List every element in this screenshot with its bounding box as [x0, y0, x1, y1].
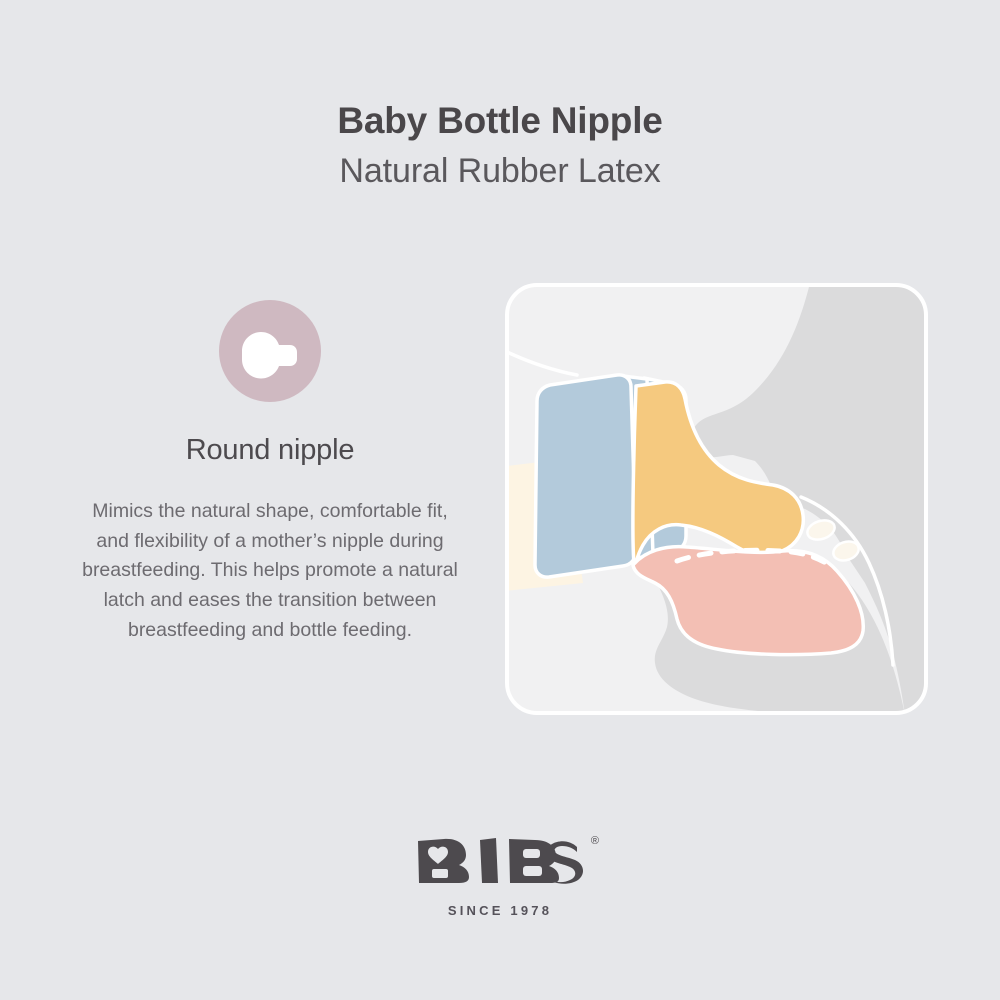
- round-nipple-badge: [219, 300, 321, 402]
- header: Baby Bottle Nipple Natural Rubber Latex: [0, 100, 1000, 193]
- feature-heading: Round nipple: [40, 434, 500, 467]
- feature-description: Mimics the natural shape, comfortable fi…: [80, 497, 460, 645]
- brand-wordmark: ®: [414, 838, 586, 884]
- bottle-collar: [535, 375, 636, 577]
- brand-tagline: SINCE 1978: [0, 903, 1000, 918]
- bibs-wordmark-icon: [414, 838, 586, 884]
- registered-trademark-mark: ®: [591, 836, 599, 847]
- brand-logo: ® SINCE 1978: [0, 838, 1000, 918]
- page-subtitle: Natural Rubber Latex: [0, 149, 1000, 193]
- feature-block: Round nipple Mimics the natural shape, c…: [40, 300, 500, 645]
- infographic-page: Baby Bottle Nipple Natural Rubber Latex …: [0, 0, 1000, 1000]
- page-title: Baby Bottle Nipple: [0, 100, 1000, 143]
- round-nipple-icon: [219, 300, 321, 402]
- baby-latch-illustration: [505, 283, 928, 715]
- illustration-panel: [505, 283, 928, 715]
